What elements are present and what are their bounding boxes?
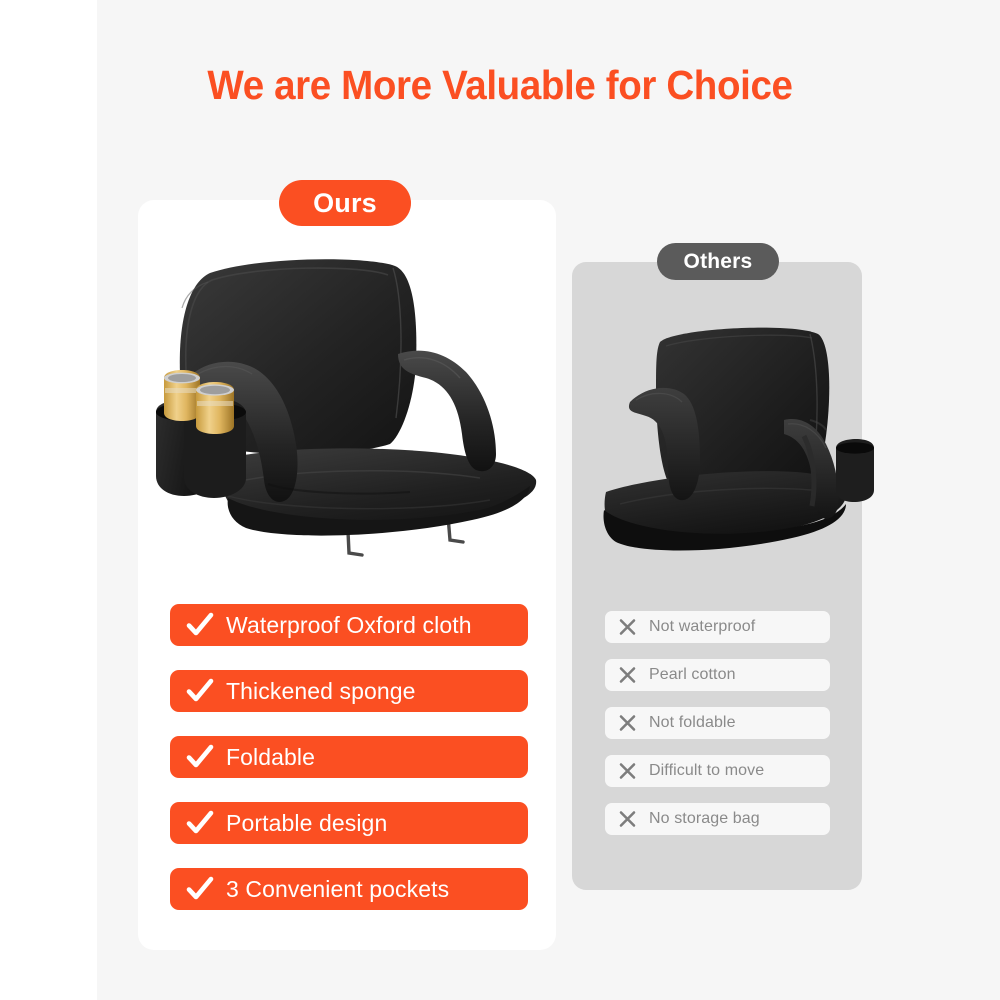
x-icon: [618, 666, 637, 684]
ours-feature-label: 3 Convenient pockets: [226, 876, 449, 903]
others-feature-label: Difficult to move: [649, 762, 764, 780]
check-icon: [186, 678, 214, 704]
page-title: We are More Valuable for Choice: [30, 62, 970, 109]
x-icon: [618, 618, 637, 636]
others-feature-row[interactable]: Pearl cotton: [605, 659, 830, 691]
left-edge-strip: [0, 0, 97, 1000]
others-badge-label: Others: [684, 250, 753, 274]
others-feature-label: Not waterproof: [649, 618, 755, 636]
others-feature-row[interactable]: Not waterproof: [605, 611, 830, 643]
ours-feature-row[interactable]: Waterproof Oxford cloth: [170, 604, 528, 646]
ours-feature-row[interactable]: Thickened sponge: [170, 670, 528, 712]
ours-feature-row[interactable]: 3 Convenient pockets: [170, 868, 528, 910]
x-icon: [618, 762, 637, 780]
ours-feature-row[interactable]: Foldable: [170, 736, 528, 778]
others-feature-label: Pearl cotton: [649, 666, 736, 684]
check-icon: [186, 876, 214, 902]
others-product-image: [588, 312, 876, 564]
check-icon: [186, 744, 214, 770]
others-feature-row[interactable]: Difficult to move: [605, 755, 830, 787]
check-icon: [186, 810, 214, 836]
ours-feature-label: Foldable: [226, 744, 315, 771]
ours-feature-label: Waterproof Oxford cloth: [226, 612, 472, 639]
others-feature-list: Not waterproof Pearl cotton Not foldable…: [605, 611, 830, 835]
ours-badge-label: Ours: [313, 188, 377, 219]
others-feature-row[interactable]: Not foldable: [605, 707, 830, 739]
ours-feature-label: Thickened sponge: [226, 678, 416, 705]
others-badge: Others: [657, 243, 779, 280]
others-feature-label: Not foldable: [649, 714, 736, 732]
ours-badge: Ours: [279, 180, 411, 226]
x-icon: [618, 810, 637, 828]
x-icon: [618, 714, 637, 732]
check-icon: [186, 612, 214, 638]
others-feature-row[interactable]: No storage bag: [605, 803, 830, 835]
others-feature-label: No storage bag: [649, 810, 760, 828]
ours-feature-list: Waterproof Oxford cloth Thickened sponge…: [170, 604, 528, 910]
ours-product-image: [150, 248, 550, 580]
ours-feature-row[interactable]: Portable design: [170, 802, 528, 844]
ours-feature-label: Portable design: [226, 810, 387, 837]
